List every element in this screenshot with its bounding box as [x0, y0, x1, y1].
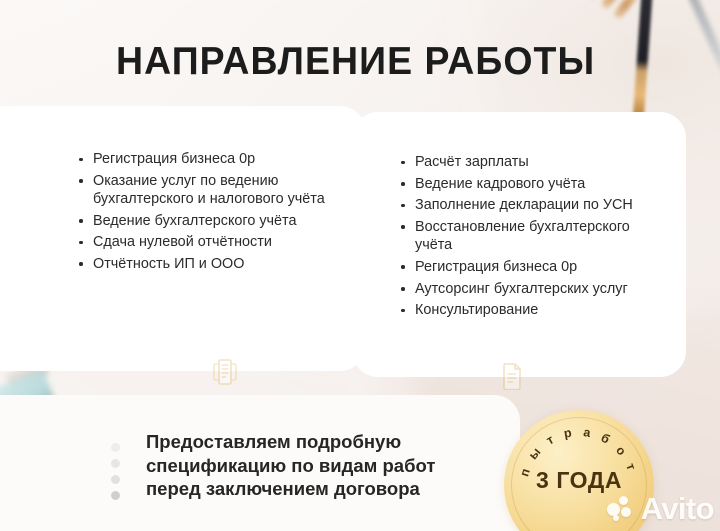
list-item: Заполнение декларации по УСН	[400, 196, 662, 215]
list-item: Оказание услуг по ведению бухгалтерского…	[78, 172, 340, 209]
badge-center-label: 3 ГОДА	[504, 467, 654, 494]
list-item: Отчётность ИП и ООО	[78, 255, 340, 274]
avito-watermark-label: Avito	[641, 491, 714, 527]
document-icon	[500, 362, 524, 395]
list-item: Ведение бухгалтерского учёта	[78, 212, 340, 231]
dot-icon	[111, 459, 120, 468]
list-item: Аутсорсинг бухгалтерских услуг	[400, 280, 662, 299]
document-icon	[212, 358, 238, 391]
tagline-line-3: перед заключением договора	[146, 477, 486, 501]
list-item: Регистрация бизнеса 0р	[400, 258, 662, 277]
avito-watermark: Avito	[607, 491, 714, 527]
tagline-line-1: Предоставляем подробную	[146, 430, 486, 454]
services-list-left: Регистрация бизнеса 0р Оказание услуг по…	[78, 150, 340, 277]
list-item: Консультирование	[400, 301, 662, 320]
avito-logo-icon	[607, 494, 637, 524]
tagline-line-2: спецификацию по видам работ	[146, 454, 486, 478]
page-title: НАПРАВЛЕНИЕ РАБОТЫ	[116, 40, 595, 84]
dot-icon	[111, 443, 120, 452]
list-item: Восстановление бухгалтерского учёта	[400, 218, 662, 255]
list-item: Сдача нулевой отчётности	[78, 233, 340, 252]
decorative-dots	[111, 443, 125, 507]
dot-icon	[111, 491, 120, 500]
dot-icon	[111, 475, 120, 484]
list-item: Регистрация бизнеса 0р	[78, 150, 340, 169]
list-item: Расчёт зарплаты	[400, 153, 662, 172]
poster-canvas: НАПРАВЛЕНИЕ РАБОТЫ Регистрация бизнеса 0…	[0, 0, 720, 531]
list-item: Ведение кадрового учёта	[400, 175, 662, 194]
tagline-text: Предоставляем подробную спецификацию по …	[146, 430, 486, 501]
services-list-right: Расчёт зарплаты Ведение кадрового учёта …	[400, 153, 662, 323]
